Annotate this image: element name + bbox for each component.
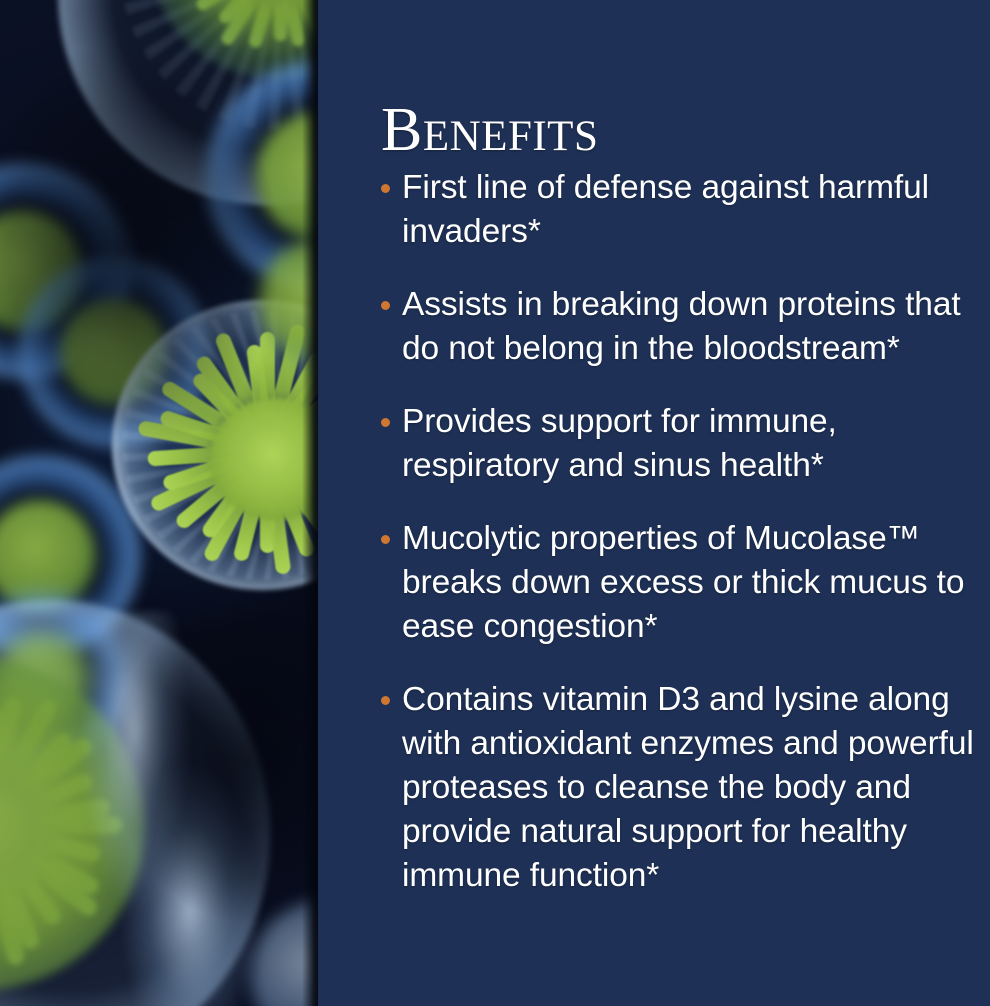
- benefit-item: Mucolytic properties of Mucolase™ breaks…: [380, 517, 980, 649]
- benefits-list: First line of defense against harmful in…: [380, 166, 980, 898]
- benefit-text: Mucolytic properties of Mucolase™ breaks…: [402, 517, 980, 649]
- image-edge-shadow: [302, 0, 318, 1006]
- bullet-dot-icon: [381, 301, 390, 310]
- bullet-dot-icon: [381, 418, 390, 427]
- image-cells-layer: [0, 0, 318, 1006]
- bullet-dot-icon: [381, 535, 390, 544]
- image-vignette: [0, 0, 318, 1006]
- benefit-text: First line of defense against harmful in…: [402, 166, 980, 254]
- bullet-dot-icon: [381, 696, 390, 705]
- benefit-text: Contains vitamin D3 and lysine along wit…: [402, 678, 980, 898]
- benefit-item: Contains vitamin D3 and lysine along wit…: [380, 678, 980, 898]
- benefit-item: Provides support for immune, respiratory…: [380, 400, 980, 488]
- page-title: Benefits: [381, 99, 598, 161]
- benefits-text-panel: Benefits First line of defense against h…: [318, 0, 990, 1006]
- benefit-text: Provides support for immune, respiratory…: [402, 400, 980, 488]
- benefit-item: Assists in breaking down proteins that d…: [380, 283, 980, 371]
- benefits-slide: Benefits First line of defense against h…: [0, 0, 990, 1006]
- bullet-dot-icon: [381, 184, 390, 193]
- virus-microscopy-image: [0, 0, 318, 1006]
- benefit-item: First line of defense against harmful in…: [380, 166, 980, 254]
- benefit-text: Assists in breaking down proteins that d…: [402, 283, 980, 371]
